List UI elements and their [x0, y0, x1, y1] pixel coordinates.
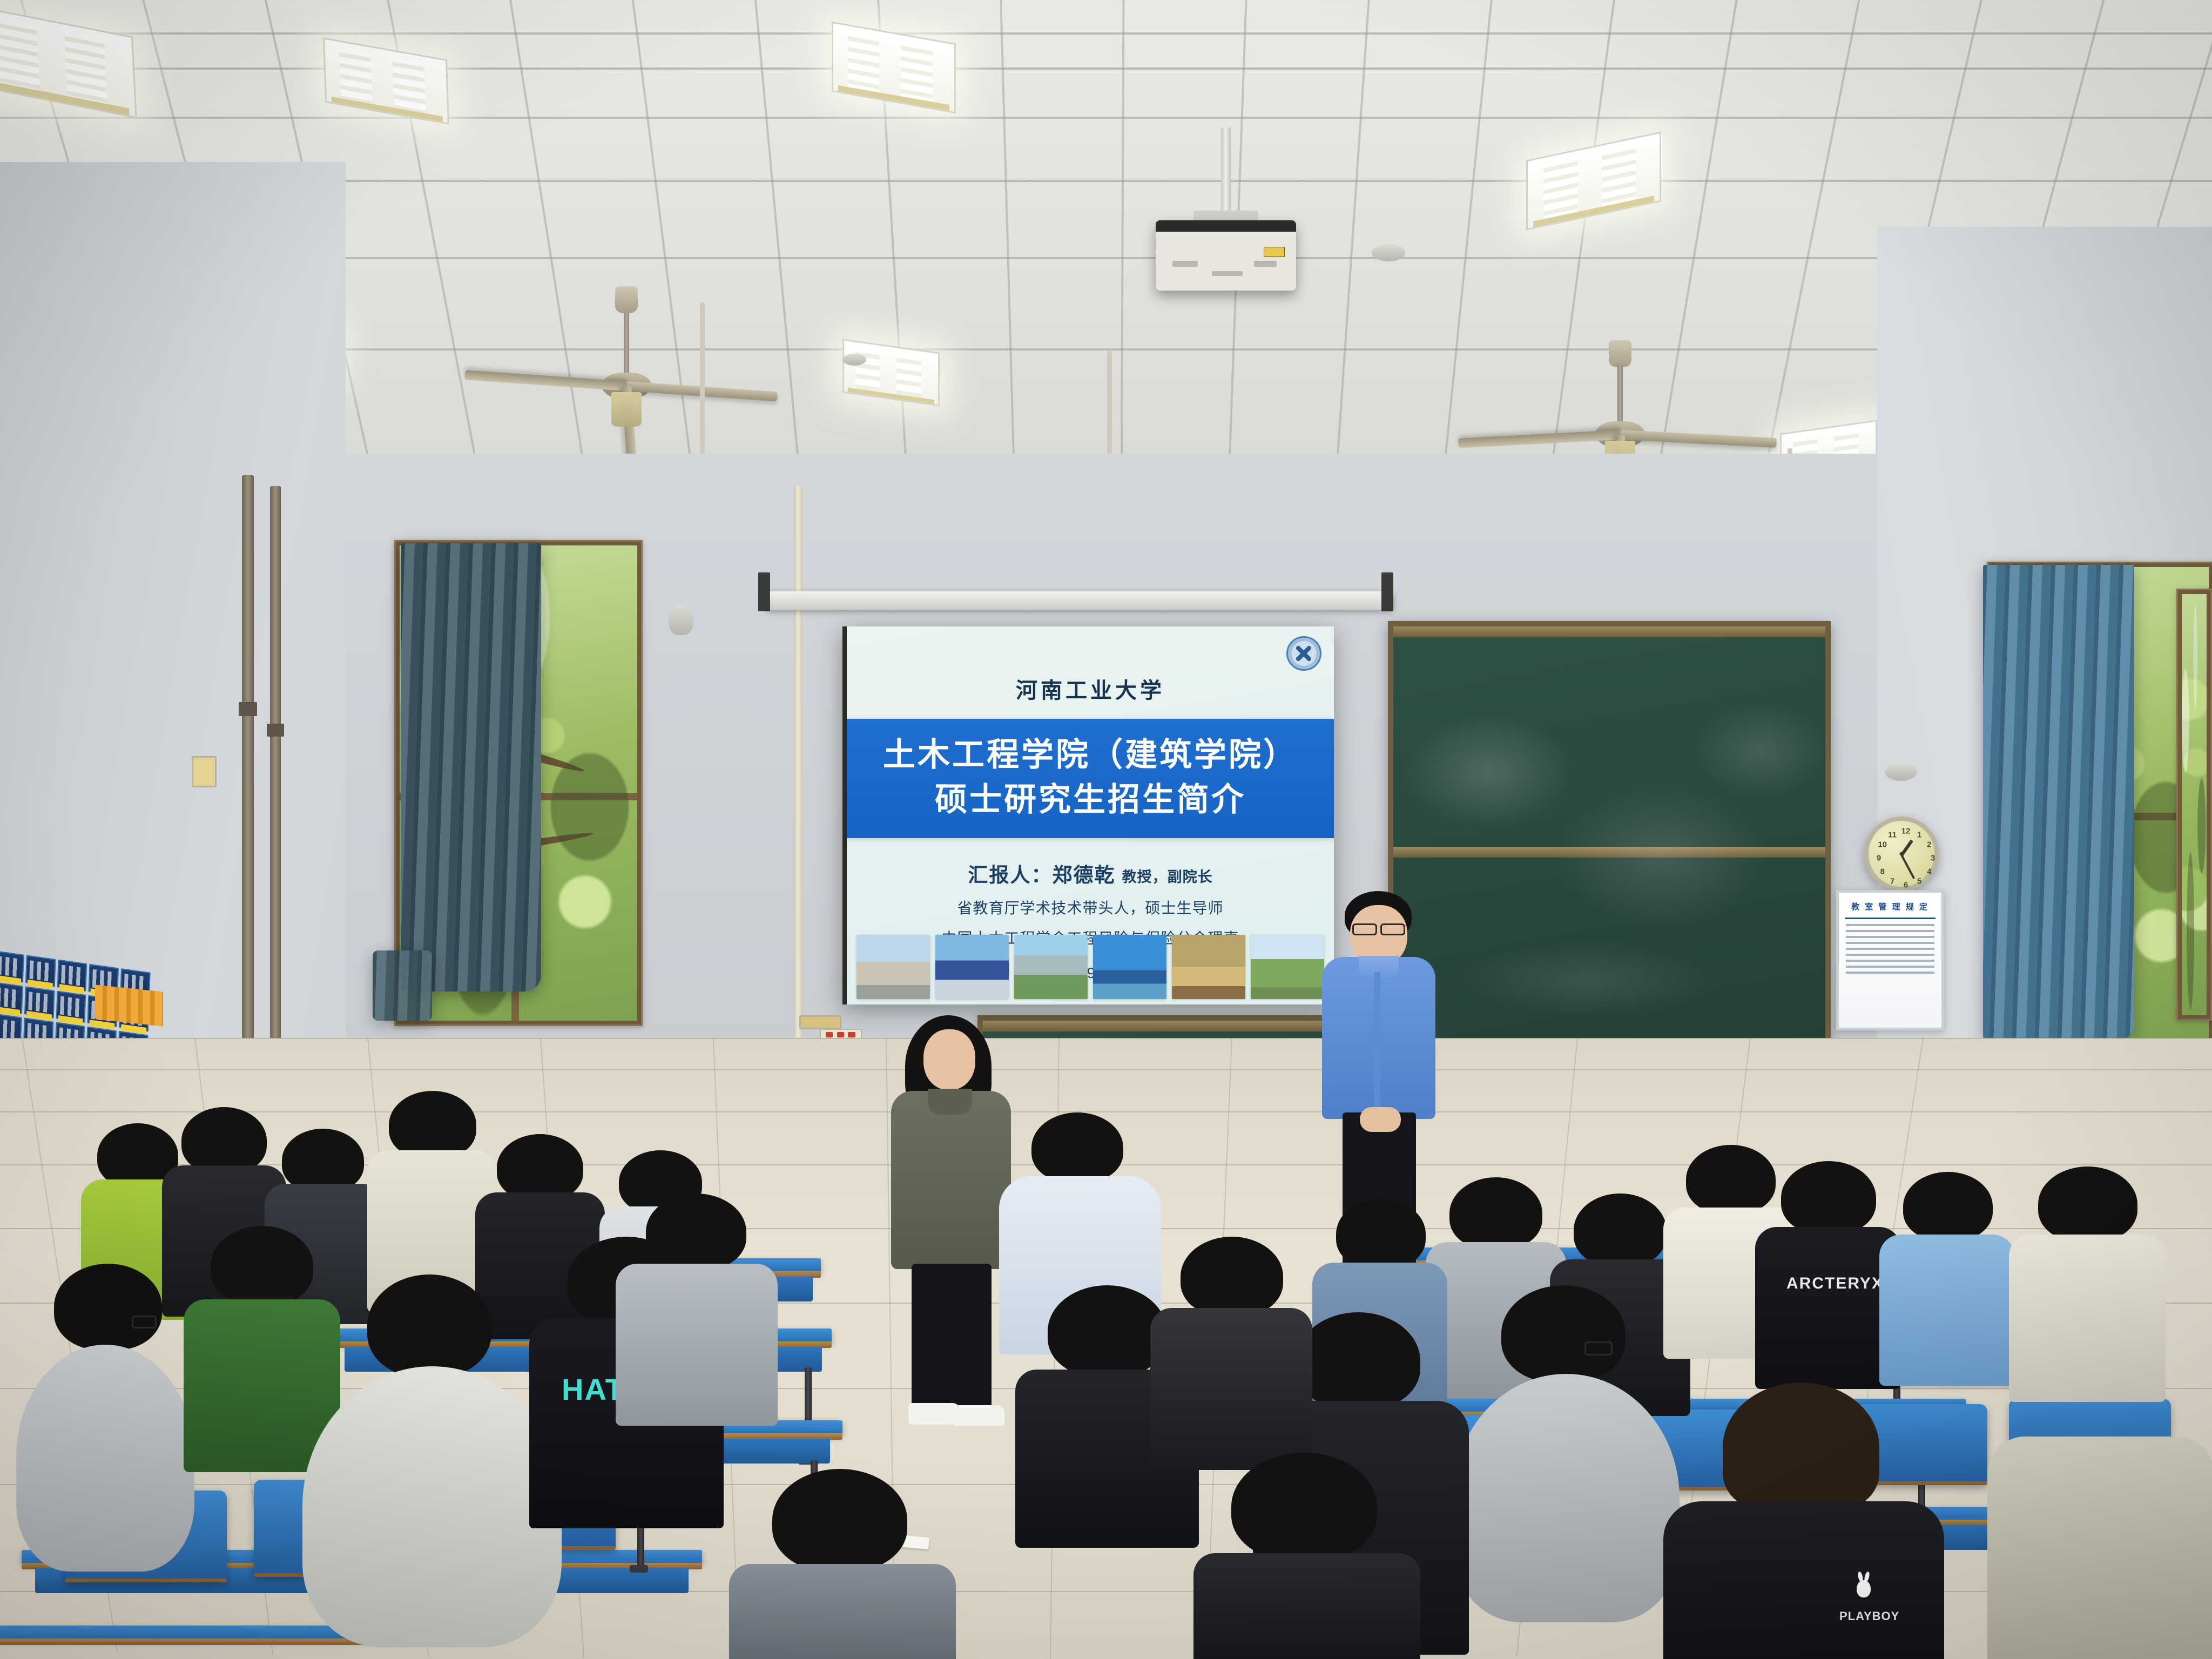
- slide-title-line1: 土木工程学院（建筑学院）: [847, 733, 1334, 778]
- audience-member: [16, 1264, 194, 1566]
- classroom-rules-poster: 教 室 管 理 规 定: [1836, 890, 1944, 1030]
- presenter-hands: [1360, 1107, 1401, 1132]
- slide-photo-strip: [857, 935, 1324, 999]
- audience-member: [616, 1193, 778, 1420]
- slide-title-line2: 硕士研究生招生简介: [847, 778, 1334, 822]
- audience-member: PLAYBOY: [1663, 1382, 1944, 1659]
- clock-minute-hand: [1900, 854, 1915, 879]
- campus-photo: [1093, 935, 1166, 999]
- audience-member: [729, 1469, 956, 1659]
- ceiling-projector: [1156, 127, 1296, 311]
- host-face: [923, 1029, 975, 1090]
- shirt-placket: [1374, 972, 1380, 1107]
- slide-university-name: 河南工业大学: [847, 673, 1334, 704]
- clock-numeral: 9: [1877, 854, 1881, 863]
- slide-credential-1: 省教育厅学术技术带头人，硕士生导师: [847, 896, 1334, 918]
- screen-bracket-left: [758, 572, 770, 611]
- poster-body: [1846, 924, 1934, 974]
- host-shoe: [953, 1405, 1004, 1426]
- wall-notice-card: [799, 1015, 841, 1029]
- desk-foot: [630, 1565, 648, 1573]
- host-collar: [928, 1089, 972, 1115]
- chalkboard-surface: [1393, 626, 1825, 1042]
- host-trousers: [912, 1264, 992, 1410]
- host-jacket: [891, 1091, 1011, 1269]
- campus-photo: [1014, 935, 1088, 999]
- slide-presenter-line: 汇报人：郑德乾 教授，副院长: [847, 859, 1334, 888]
- presentation-slide: 河南工业大学 土木工程学院（建筑学院） 硕士研究生招生简介 汇报人：郑德乾 教授…: [847, 626, 1334, 1004]
- clock-numeral: 2: [1927, 840, 1931, 849]
- jacket-brand-text: PLAYBOY: [1839, 1609, 1899, 1623]
- slide-presenter-name: 郑德乾: [1052, 864, 1115, 886]
- clock-numeral: 1: [1917, 830, 1921, 839]
- audience-member: [1150, 1237, 1312, 1469]
- pipe-joint: [267, 724, 284, 737]
- clock-hour-hand: [1900, 839, 1913, 856]
- campus-photo: [857, 935, 930, 999]
- dome-camera-icon: [1885, 763, 1917, 781]
- clock-numeral: 5: [1917, 877, 1921, 886]
- analog-wall-clock: 121234567891011: [1864, 817, 1939, 891]
- clock-numeral: 6: [1904, 881, 1908, 890]
- clock-numeral: 4: [1927, 867, 1931, 876]
- slide-presenter-rank: 教授，副院长: [1122, 869, 1213, 885]
- glasses-icon: [1380, 923, 1405, 935]
- left-wall-notice: [192, 756, 217, 787]
- left-curtain-tieback[interactable]: [373, 950, 432, 1021]
- far-right-window-sliver: [2176, 589, 2212, 1021]
- audience-member: [1879, 1172, 2014, 1377]
- clock-numeral: 11: [1888, 830, 1897, 839]
- university-logo-icon: [1286, 636, 1321, 671]
- clock-numeral: 12: [1901, 827, 1911, 836]
- wall-hook-rack: [95, 984, 163, 1026]
- clock-numeral: 8: [1880, 867, 1885, 876]
- slide-presenter-label: 汇报人：: [968, 864, 1052, 886]
- audience-member: [1453, 1285, 1680, 1609]
- left-window-curtain[interactable]: [401, 543, 541, 992]
- right-window-curtain[interactable]: [1983, 565, 2134, 1040]
- slide-title-banner: 土木工程学院（建筑学院） 硕士研究生招生简介: [847, 719, 1334, 839]
- campus-photo: [935, 935, 1009, 999]
- classroom-scene: 河南工业大学 土木工程学院（建筑学院） 硕士研究生招生简介 汇报人：郑德乾 教授…: [0, 0, 2212, 1659]
- ceiling-fan: [475, 286, 778, 464]
- glasses-icon: [132, 1316, 157, 1328]
- playboy-bunny-icon: [1857, 1580, 1871, 1597]
- hoodie-brand-text: ARCTERYX: [1786, 1274, 1884, 1293]
- poster-title: 教 室 管 理 规 定: [1845, 901, 1935, 912]
- pipe-joint: [239, 702, 257, 716]
- screen-bracket-right: [1381, 572, 1393, 611]
- projection-screen[interactable]: 河南工业大学 土木工程学院（建筑学院） 硕士研究生招生简介 汇报人：郑德乾 教授…: [842, 626, 1334, 1004]
- glasses-icon: [1584, 1341, 1613, 1355]
- clock-numeral: 7: [1890, 877, 1894, 886]
- audience-member: [1193, 1453, 1420, 1659]
- security-camera-icon: [669, 604, 693, 635]
- glasses-icon: [1352, 923, 1377, 935]
- green-chalkboard: [1388, 621, 1831, 1048]
- smoke-detector-icon: [1372, 244, 1405, 261]
- campus-photo: [1172, 935, 1245, 999]
- audience-member: [1987, 1437, 2212, 1659]
- clock-numeral: 10: [1878, 840, 1887, 849]
- projector-screen-housing[interactable]: [767, 591, 1393, 610]
- audience-member: [2009, 1166, 2166, 1399]
- audience-member: [302, 1274, 562, 1642]
- poster-divider: [1845, 918, 1935, 919]
- smoke-detector-icon: [842, 354, 866, 366]
- clock-numeral: 3: [1931, 854, 1935, 863]
